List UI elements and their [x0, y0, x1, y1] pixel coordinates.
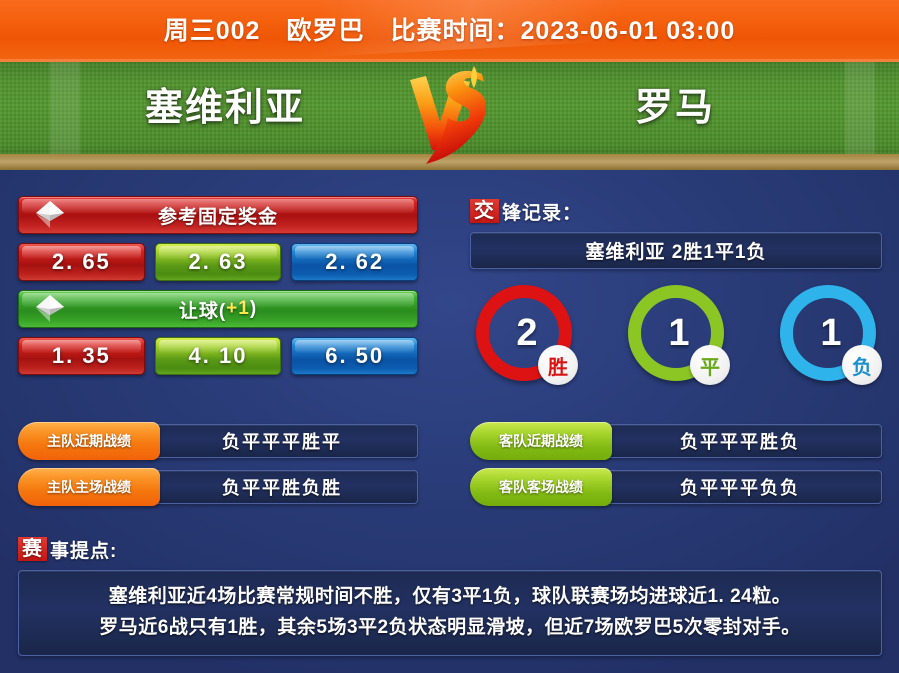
bonus-odd-draw[interactable]: 2. 63 — [155, 243, 282, 281]
bonus-title-bar: 参考固定奖金 — [18, 196, 418, 234]
form-row-away-venue: 负平平平负负 客队客场战绩 — [470, 470, 882, 504]
away-venue-tag: 客队客场战绩 — [470, 468, 612, 506]
handicap-odd-home[interactable]: 1. 35 — [18, 337, 145, 375]
h2h-label-rest: 锋记录： — [502, 198, 582, 225]
away-venue-value: 负平平平负负 — [598, 470, 882, 504]
handicap-prefix: 让球( — [179, 296, 226, 323]
away-form-panel: 负平平平胜负 客队近期战绩 负平平平负负 客队客场战绩 — [470, 424, 882, 516]
odds-panel: 参考固定奖金 2. 65 2. 63 2. 62 — [18, 196, 418, 375]
header-banner: 周三002 欧罗巴 比赛时间：2023-06-01 03:00 — [0, 0, 899, 62]
handicap-odd-away[interactable]: 6. 50 — [291, 337, 418, 375]
home-venue-tag: 主队主场战绩 — [18, 468, 160, 506]
h2h-ring-loss: 1 负 — [780, 285, 876, 381]
match-preview-page: 周三002 欧罗巴 比赛时间：2023-06-01 03:00 塞维利亚 罗马 — [0, 0, 899, 673]
bonus-odd-home[interactable]: 2. 65 — [18, 243, 145, 281]
tips-section-label: 赛事提点: — [18, 534, 882, 564]
vs-icon — [404, 64, 496, 168]
tips-line-2: 罗马近6战只有1胜，其余5场3平2负状态明显滑坡，但近7场欧罗巴5次零封对手。 — [33, 612, 867, 643]
tips-content-box: 塞维利亚近4场比赛常规时间不胜，仅有3平1负，球队联赛场均进球近1. 24粒。 … — [18, 570, 882, 656]
handicap-odd-draw[interactable]: 4. 10 — [155, 337, 282, 375]
odd-gloss — [159, 246, 278, 259]
tips-label-boxchar: 赛 — [18, 537, 47, 561]
odd-gloss — [295, 340, 414, 353]
tips-panel: 赛事提点: 塞维利亚近4场比赛常规时间不胜，仅有3平1负，球队联赛场均进球近1.… — [18, 534, 882, 656]
h2h-loss-count: 1 — [820, 312, 841, 355]
bonus-title-text: 参考固定奖金 — [158, 202, 278, 229]
bonus-odds-row: 2. 65 2. 63 2. 62 — [18, 243, 418, 281]
h2h-rings: 2 胜 1 平 1 负 — [470, 285, 882, 381]
h2h-summary-bar: 塞维利亚 2胜1平1负 — [470, 232, 882, 269]
handicap-suffix: ) — [250, 298, 257, 320]
home-venue-value: 负平平胜负胜 — [146, 470, 418, 504]
form-row-home-recent: 负平平平胜平 主队近期战绩 — [18, 424, 418, 458]
tips-line-1: 塞维利亚近4场比赛常规时间不胜，仅有3平1负，球队联赛场均进球近1. 24粒。 — [33, 581, 867, 612]
h2h-section-label: 交锋记录： — [470, 196, 882, 226]
h2h-draw-badge: 平 — [690, 345, 730, 385]
away-recent-value: 负平平平胜负 — [598, 424, 882, 458]
handicap-odds-row: 1. 35 4. 10 6. 50 — [18, 337, 418, 375]
h2h-win-badge: 胜 — [538, 345, 578, 385]
pitch-banner: 塞维利亚 罗马 — [0, 62, 899, 170]
h2h-panel: 交锋记录： 塞维利亚 2胜1平1负 2 胜 1 平 1 — [470, 196, 882, 381]
odd-gloss — [295, 246, 414, 259]
away-team-name: 罗马 — [520, 62, 830, 154]
pitch-stripe-right — [845, 62, 875, 157]
odd-gloss — [22, 340, 141, 353]
odd-gloss — [22, 246, 141, 259]
home-recent-tag: 主队近期战绩 — [18, 422, 160, 460]
h2h-label-boxchar: 交 — [470, 199, 499, 223]
home-team-name: 塞维利亚 — [70, 62, 380, 154]
home-form-panel: 负平平平胜平 主队近期战绩 负平平胜负胜 主队主场战绩 — [18, 424, 418, 516]
diamond-icon — [35, 200, 65, 230]
h2h-ring-win: 2 胜 — [476, 285, 572, 381]
diamond-icon — [35, 294, 65, 324]
tips-label-rest: 事提点: — [50, 536, 117, 563]
h2h-win-count: 2 — [516, 312, 537, 355]
h2h-summary-text: 塞维利亚 2胜1平1负 — [586, 237, 767, 264]
home-recent-value: 负平平平胜平 — [146, 424, 418, 458]
handicap-title-bar: 让球(+1) — [18, 290, 418, 328]
h2h-draw-count: 1 — [668, 312, 689, 355]
header-title: 周三002 欧罗巴 比赛时间：2023-06-01 03:00 — [0, 0, 899, 62]
away-recent-tag: 客队近期战绩 — [470, 422, 612, 460]
handicap-value: +1 — [226, 298, 250, 320]
form-row-away-recent: 负平平平胜负 客队近期战绩 — [470, 424, 882, 458]
h2h-ring-draw: 1 平 — [628, 285, 724, 381]
form-row-home-venue: 负平平胜负胜 主队主场战绩 — [18, 470, 418, 504]
bonus-odd-away[interactable]: 2. 62 — [291, 243, 418, 281]
odd-gloss — [159, 340, 278, 353]
h2h-loss-badge: 负 — [842, 345, 882, 385]
